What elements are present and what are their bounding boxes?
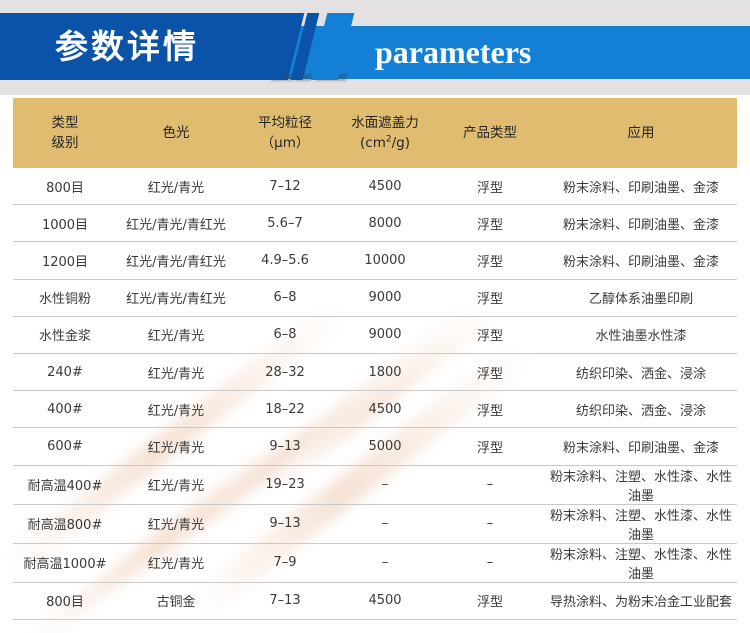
banner-title-cn: 参数详情 (55, 22, 199, 72)
cell-application: 粉末涂料、注塑、水性漆、水性油墨 (545, 504, 737, 543)
column-header-water-coverage: 水面遮盖力 (cm2/g) (335, 98, 435, 168)
cell-water-coverage: – (335, 504, 435, 543)
cover-unit-post: /g) (392, 135, 410, 151)
cell-hue: 红光/青光 (117, 543, 235, 582)
cell-type: 400# (13, 391, 117, 428)
cell-water-coverage: 9000 (335, 316, 435, 353)
table-row: 400#红光/青光18–224500浮型纺织印染、洒金、浸涂 (13, 391, 737, 428)
cell-product-type: – (435, 543, 545, 582)
cell-particle-size: 9–13 (235, 504, 335, 543)
cell-particle-size: 4.9–5.6 (235, 242, 335, 279)
cell-type: 800目 (13, 582, 117, 619)
cell-particle-size: 7–12 (235, 168, 335, 205)
cell-particle-size: 7–13 (235, 582, 335, 619)
cell-application: 粉末涂料、印刷油墨、金漆 (545, 428, 737, 465)
cell-water-coverage: 4500 (335, 168, 435, 205)
cell-particle-size: 9–13 (235, 428, 335, 465)
cell-water-coverage: 10000 (335, 242, 435, 279)
cell-product-type: 浮型 (435, 279, 545, 316)
cell-hue: 红光/青光/青红光 (117, 205, 235, 242)
cell-application: 粉末涂料、印刷油墨、金漆 (545, 242, 737, 279)
cell-type: 耐高温800# (13, 504, 117, 543)
cell-type: 1200目 (13, 242, 117, 279)
cell-hue: 红光/青光 (117, 391, 235, 428)
cell-water-coverage: 5000 (335, 428, 435, 465)
column-header-type-line2: 级别 (13, 133, 117, 153)
cell-application: 乙醇体系油墨印刷 (545, 279, 737, 316)
cell-hue: 红光/青光/青红光 (117, 279, 235, 316)
cell-hue: 红光/青光 (117, 316, 235, 353)
cell-application: 水性油墨水性漆 (545, 316, 737, 353)
column-header-size-line1: 平均粒径 (258, 115, 312, 131)
cell-type: 240# (13, 353, 117, 390)
table-row: 耐高温800#红光/青光9–13––粉末涂料、注塑、水性漆、水性油墨 (13, 504, 737, 543)
cell-product-type: 浮型 (435, 316, 545, 353)
cell-particle-size: 6–8 (235, 316, 335, 353)
cell-type: 水性铜粉 (13, 279, 117, 316)
cell-type: 800目 (13, 168, 117, 205)
cell-application: 粉末涂料、印刷油墨、金漆 (545, 205, 737, 242)
table-row: 水性金浆红光/青光6–89000浮型水性油墨水性漆 (13, 316, 737, 353)
cell-water-coverage: 1800 (335, 353, 435, 390)
page-banner: 参数详情 parameters (0, 0, 750, 95)
column-header-hue: 色光 (117, 98, 235, 168)
cell-type: 1000目 (13, 205, 117, 242)
cell-hue: 古铜金 (117, 582, 235, 619)
cell-type: 耐高温1000# (13, 543, 117, 582)
cell-product-type: 浮型 (435, 353, 545, 390)
table-row: 1000目红光/青光/青红光5.6–78000浮型粉末涂料、印刷油墨、金漆 (13, 205, 737, 242)
cover-unit-pre: (cm (360, 135, 386, 151)
cell-product-type: – (435, 504, 545, 543)
cell-product-type: 浮型 (435, 391, 545, 428)
cell-application: 纺织印染、洒金、浸涂 (545, 353, 737, 390)
cell-application: 粉末涂料、注塑、水性漆、水性油墨 (545, 465, 737, 504)
cell-hue: 红光/青光 (117, 428, 235, 465)
column-header-cover-line1: 水面遮盖力 (351, 115, 419, 131)
cell-water-coverage: 8000 (335, 205, 435, 242)
column-header-cover-unit: (cm2/g) (335, 133, 435, 153)
cell-application: 导热涂料、为粉末冶金工业配套 (545, 582, 737, 619)
cell-water-coverage: 9000 (335, 279, 435, 316)
cell-product-type: – (435, 465, 545, 504)
cell-water-coverage: 4500 (335, 391, 435, 428)
cell-hue: 红光/青光/青红光 (117, 242, 235, 279)
column-header-type: 类型 级别 (13, 98, 117, 168)
cell-product-type: 浮型 (435, 582, 545, 619)
cell-particle-size: 7–9 (235, 543, 335, 582)
column-header-product-type: 产品类型 (435, 98, 545, 168)
cell-application: 纺织印染、洒金、浸涂 (545, 391, 737, 428)
table-header: 类型 级别 色光 平均粒径 （μm） 水面遮盖力 (cm2/g) 产品类型 应用 (13, 98, 737, 168)
column-header-size-unit: （μm） (235, 133, 335, 153)
cell-application: 粉末涂料、印刷油墨、金漆 (545, 168, 737, 205)
cell-product-type: 浮型 (435, 205, 545, 242)
column-header-particle-size: 平均粒径 （μm） (235, 98, 335, 168)
cell-particle-size: 28–32 (235, 353, 335, 390)
cell-type: 耐高温400# (13, 465, 117, 504)
table-row: 600#红光/青光9–135000浮型粉末涂料、印刷油墨、金漆 (13, 428, 737, 465)
cell-hue: 红光/青光 (117, 465, 235, 504)
cell-product-type: 浮型 (435, 428, 545, 465)
cell-water-coverage: – (335, 465, 435, 504)
cell-type: 600# (13, 428, 117, 465)
cell-product-type: 浮型 (435, 168, 545, 205)
parameters-table: 类型 级别 色光 平均粒径 （μm） 水面遮盖力 (cm2/g) 产品类型 应用… (13, 98, 737, 620)
cell-application: 粉末涂料、注塑、水性漆、水性油墨 (545, 543, 737, 582)
table-row: 耐高温1000#红光/青光7–9––粉末涂料、注塑、水性漆、水性油墨 (13, 543, 737, 582)
column-header-type-line1: 类型 (52, 115, 79, 131)
cell-product-type: 浮型 (435, 242, 545, 279)
cell-water-coverage: – (335, 543, 435, 582)
column-header-application: 应用 (545, 98, 737, 168)
cell-particle-size: 19–23 (235, 465, 335, 504)
table-row: 240#红光/青光28–321800浮型纺织印染、洒金、浸涂 (13, 353, 737, 390)
cell-type: 水性金浆 (13, 316, 117, 353)
parameters-table-container: 类型 级别 色光 平均粒径 （μm） 水面遮盖力 (cm2/g) 产品类型 应用… (13, 98, 737, 620)
cell-hue: 红光/青光 (117, 353, 235, 390)
table-row: 耐高温400#红光/青光19–23––粉末涂料、注塑、水性漆、水性油墨 (13, 465, 737, 504)
cell-hue: 红光/青光 (117, 504, 235, 543)
table-row: 1200目红光/青光/青红光4.9–5.610000浮型粉末涂料、印刷油墨、金漆 (13, 242, 737, 279)
table-body: 800目红光/青光7–124500浮型粉末涂料、印刷油墨、金漆1000目红光/青… (13, 168, 737, 619)
table-header-row: 类型 级别 色光 平均粒径 （μm） 水面遮盖力 (cm2/g) 产品类型 应用 (13, 98, 737, 168)
cell-particle-size: 5.6–7 (235, 205, 335, 242)
cell-hue: 红光/青光 (117, 168, 235, 205)
table-row: 800目红光/青光7–124500浮型粉末涂料、印刷油墨、金漆 (13, 168, 737, 205)
cell-particle-size: 6–8 (235, 279, 335, 316)
table-row: 水性铜粉红光/青光/青红光6–89000浮型乙醇体系油墨印刷 (13, 279, 737, 316)
cell-particle-size: 18–22 (235, 391, 335, 428)
banner-title-en: parameters (375, 26, 531, 78)
cell-water-coverage: 4500 (335, 582, 435, 619)
table-row: 800目古铜金7–134500浮型导热涂料、为粉末冶金工业配套 (13, 582, 737, 619)
